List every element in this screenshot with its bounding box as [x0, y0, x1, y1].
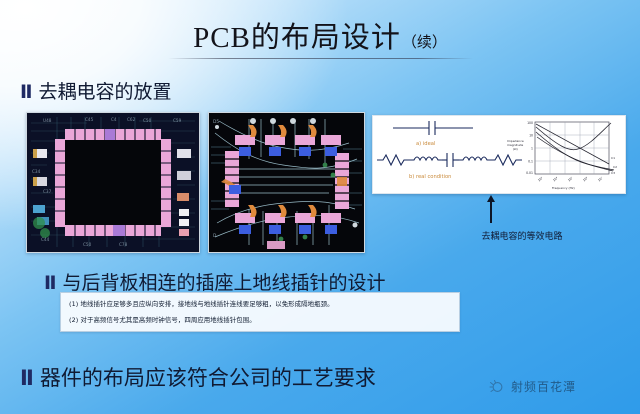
svg-text:C37: C37 [43, 189, 52, 194]
circuit-label-real: b) real condition [409, 174, 451, 180]
svg-text:C4: C4 [111, 117, 117, 122]
svg-text:C78: C78 [119, 242, 128, 247]
svg-text:(Ω): (Ω) [513, 147, 518, 151]
slide-canvas: PCB的布局设计（续） Ⅱ 去耦电容的放置 [0, 0, 640, 414]
svg-text:100: 100 [527, 121, 533, 125]
svg-text:C34: C34 [32, 169, 41, 174]
bullet-item-3: Ⅱ 器件的布局应该符合公司的工艺要求 [20, 362, 376, 392]
svg-text:C2: C2 [613, 165, 617, 169]
svg-text:D5: D5 [213, 119, 219, 125]
pcb-photo-bga-layout: U48C45C4 C62C50C59 C34C37C44 C50C78 [26, 112, 200, 253]
bullet-marker-icon: Ⅱ [20, 81, 32, 103]
svg-text:0.1: 0.1 [528, 160, 533, 164]
svg-text:C50: C50 [83, 242, 92, 247]
page-title: PCB的布局设计（续） [0, 14, 640, 56]
note-box: (1) 地线插针应足够多且应纵向安排，接地线与地线插针连线要足够粗，以免形成隔地… [60, 292, 460, 332]
bullet-marker-icon: Ⅱ [44, 272, 56, 294]
svg-text:C44: C44 [41, 237, 50, 242]
svg-text:Frequency (Hz): Frequency (Hz) [552, 186, 575, 190]
note-line-2: (2) 对于高频信号尤其是高频时钟信号，四周应用地线插针包围。 [69, 312, 453, 328]
diagram-pointer-arrow-icon [490, 201, 492, 223]
svg-text:C50: C50 [143, 118, 152, 123]
circuit-label-ideal: a) ideal [416, 141, 435, 147]
svg-text:C45: C45 [85, 117, 94, 122]
svg-text:C1: C1 [611, 156, 615, 160]
title-divider [168, 58, 473, 59]
svg-text:1: 1 [531, 147, 533, 151]
bullet-label-3: 器件的布局应该符合公司的工艺要求 [40, 362, 376, 392]
watermark: 射频百花潭 [488, 378, 576, 395]
title-main-text: PCB的布局设计 [193, 14, 401, 56]
bullet-item-2: Ⅱ 与后背板相连的插座上地线插针的设计 [44, 268, 386, 295]
pcb-photo-decoupling-cap-layout: D5D [208, 112, 365, 253]
svg-text:C3: C3 [611, 171, 615, 175]
svg-text:C62: C62 [127, 117, 136, 122]
bullet-label-2: 与后背板相连的插座上地线插针的设计 [63, 268, 386, 295]
svg-text:10: 10 [529, 134, 533, 138]
sun-circle-icon [488, 378, 505, 395]
bullet-marker-icon: Ⅱ [20, 366, 33, 390]
diagram-caption: 去耦电容的等效电路 [432, 229, 612, 242]
svg-text:0.01: 0.01 [526, 171, 533, 175]
svg-text:C59: C59 [173, 118, 182, 123]
note-line-1: (1) 地线插针应足够多且应纵向安排，接地线与地线插针连线要足够粗，以免形成隔地… [69, 296, 453, 312]
svg-text:U48: U48 [43, 118, 52, 123]
bullet-item-1: Ⅱ 去耦电容的放置 [20, 77, 172, 104]
bullet-label-1: 去耦电容的放置 [39, 77, 172, 104]
watermark-label: 射频百花潭 [511, 378, 576, 395]
title-suffix-text: （续） [402, 31, 447, 52]
decoupling-cap-equivalent-circuit-figure: a) ideal b) real condition [372, 115, 626, 194]
